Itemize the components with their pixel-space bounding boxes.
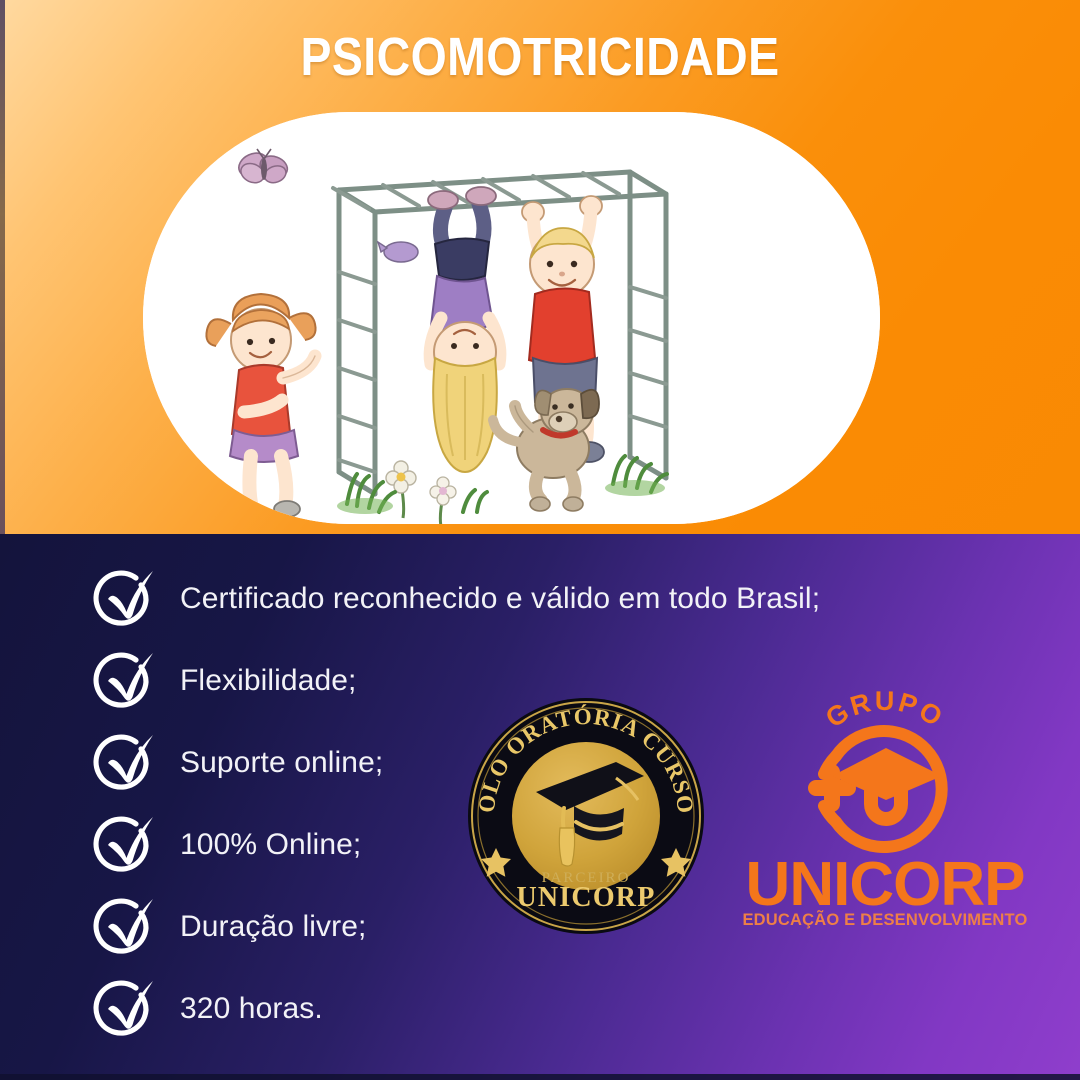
page-title: PSICOMOTRICIDADE	[76, 26, 1005, 88]
check-circle-icon	[92, 732, 154, 794]
seal-brand-text: UNICORP	[516, 882, 655, 913]
benefit-label: 100% Online;	[180, 828, 361, 862]
graduation-cap-ring-icon	[802, 714, 968, 864]
check-circle-icon	[92, 896, 154, 958]
check-circle-icon	[92, 650, 154, 712]
unicorp-logo: GRUPO UNICORP EDUCAÇÃO E DESENVOLVIMENTO	[730, 686, 1040, 938]
hero-image-panel	[143, 112, 880, 524]
benefit-label: Suporte online;	[180, 746, 383, 780]
check-circle-icon	[92, 814, 154, 876]
check-circle-icon	[92, 568, 154, 630]
benefit-label: Flexibilidade;	[180, 664, 357, 698]
benefit-label: 320 horas.	[180, 992, 323, 1026]
unicorp-wordmark: UNICORP	[730, 854, 1040, 916]
list-item: 320 horas.	[92, 968, 852, 1050]
benefit-label: Duração livre;	[180, 910, 366, 944]
list-item: Certificado reconhecido e válido em todo…	[92, 558, 852, 640]
benefit-label: Certificado reconhecido e válido em todo…	[180, 582, 820, 616]
playground-illustration	[143, 112, 880, 524]
course-promo-poster: PSICOMOTRICIDADE	[0, 0, 1080, 1080]
check-circle-icon	[92, 978, 154, 1040]
polo-oratoria-cursos-seal: POLO ORATÓRIA CURSOS PARCEIRO UNICORP	[466, 696, 706, 936]
unicorp-tagline: EDUCAÇÃO E DESENVOLVIMENTO	[730, 911, 1040, 930]
header-band: PSICOMOTRICIDADE	[0, 0, 1080, 534]
